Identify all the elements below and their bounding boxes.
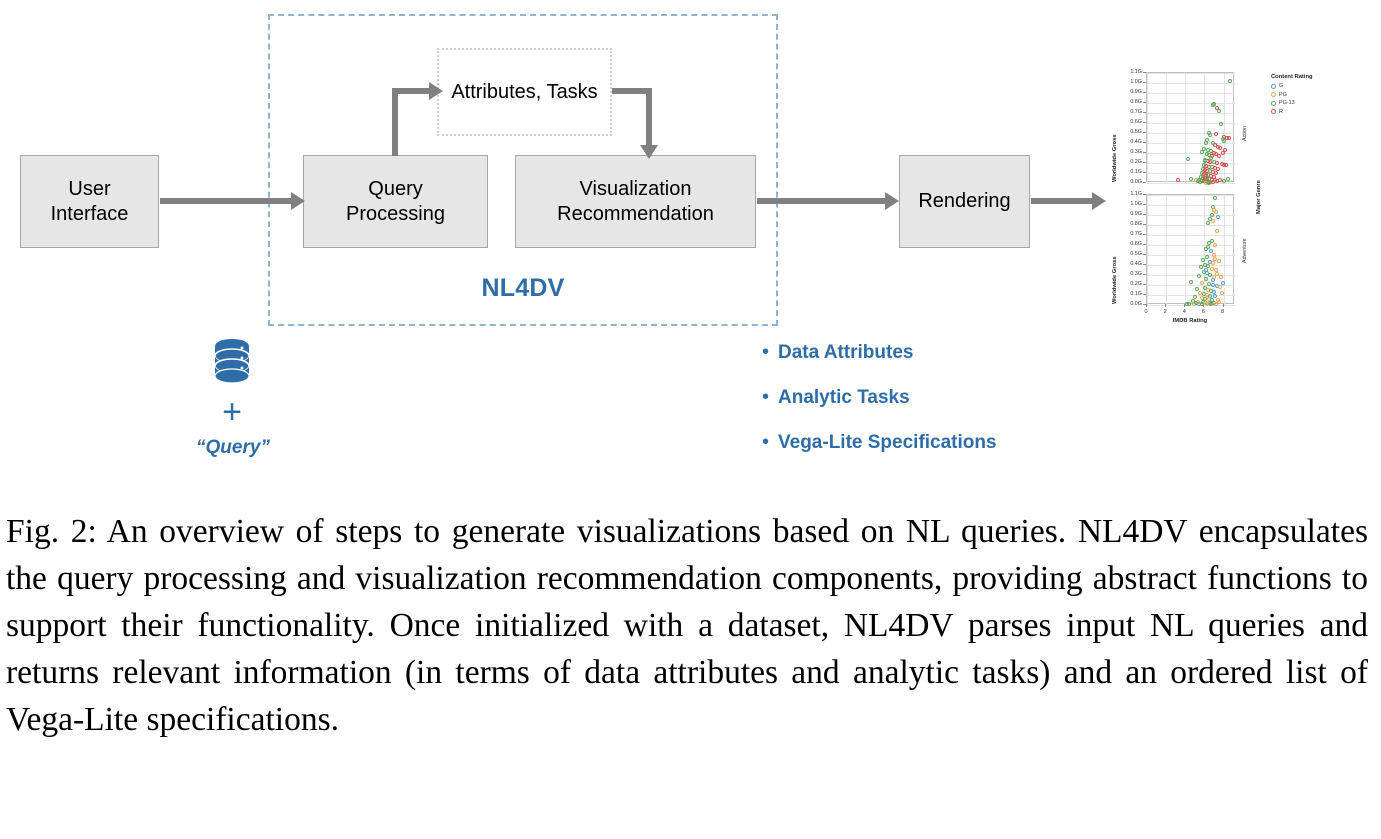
data-point (1219, 122, 1223, 126)
data-point (1207, 181, 1211, 185)
y-axis-tickmark (1143, 92, 1146, 93)
data-point (1213, 243, 1217, 247)
gridline (1147, 235, 1235, 236)
data-point (1198, 291, 1202, 295)
output-label-vega-lite-specifications: Vega-Lite Specifications (778, 432, 997, 454)
legend-item[interactable]: PG (1271, 92, 1313, 98)
x-axis-tick-label: 6 (1193, 309, 1213, 315)
legend-label: G (1279, 83, 1283, 89)
y-axis-tick-label: 0.8G (1114, 221, 1142, 227)
gridline (1147, 103, 1235, 104)
y-axis-tickmark (1143, 82, 1146, 83)
query-processing-box[interactable]: Query Processing (303, 155, 488, 248)
attributes-tasks-box[interactable]: Attributes, Tasks (437, 48, 612, 136)
nl4dv-label: NL4DV (268, 274, 778, 303)
legend-label: R (1279, 109, 1283, 115)
data-point (1198, 180, 1202, 184)
gridline (1147, 205, 1235, 206)
legend-label: PG-13 (1279, 100, 1295, 106)
y-axis-tickmark (1143, 72, 1146, 73)
y-axis-tickmark (1143, 254, 1146, 255)
gridline (1147, 245, 1235, 246)
y-axis-tickmark (1143, 162, 1146, 163)
gridline (1147, 195, 1148, 305)
y-axis-tickmark (1143, 294, 1146, 295)
user-interface-line2: Interface (51, 202, 129, 227)
gridline (1166, 195, 1167, 305)
gridline (1147, 143, 1235, 144)
output-label-data-attributes: Data Attributes (778, 342, 913, 364)
y-axis-tick-label: 0.3G (1114, 149, 1142, 155)
plus-sign: + (208, 393, 256, 432)
attributes-tasks-line2: Tasks (547, 81, 598, 103)
y-axis-title: Worldwide Gross (1112, 134, 1118, 182)
data-point (1197, 274, 1201, 278)
y-axis-tick-label: 0.8G (1114, 99, 1142, 105)
gridline (1147, 215, 1235, 216)
legend-swatch-icon (1271, 101, 1276, 106)
x-axis-tickmark (1223, 304, 1224, 307)
list-item: • Data Attributes (762, 342, 1092, 364)
visualization-rec-line2: Recommendation (557, 202, 714, 227)
query-processing-line2: Processing (346, 202, 445, 227)
gridline (1147, 73, 1148, 183)
data-point (1189, 280, 1193, 284)
rendering-label: Rendering (918, 189, 1010, 214)
y-axis-tickmark (1143, 182, 1146, 183)
y-axis-tickmark (1143, 274, 1146, 275)
gridline (1147, 173, 1235, 174)
data-point (1210, 239, 1214, 243)
data-point (1215, 161, 1219, 165)
pipeline-figure: NL4DV User Interface Query Processing Vi… (0, 0, 1381, 500)
arrow-vis-to-rendering-icon (757, 198, 886, 204)
x-axis-tick-label: 2 (1155, 309, 1175, 315)
y-axis-tickmark (1143, 102, 1146, 103)
arrow-ui-to-query-icon (160, 198, 292, 204)
legend-swatch-icon (1271, 109, 1276, 114)
chart-legend: Content Rating GPGPG-13R (1271, 74, 1313, 117)
data-point (1218, 146, 1222, 150)
data-point (1186, 157, 1190, 161)
rendering-box[interactable]: Rendering (899, 155, 1030, 248)
y-axis-title: Worldwide Gross (1112, 256, 1118, 304)
gridline (1147, 83, 1235, 84)
y-axis-tick-label: 0.1G (1114, 169, 1142, 175)
y-axis-tick-label: 1.0G (1114, 201, 1142, 207)
y-axis-tickmark (1143, 284, 1146, 285)
query-processing-line1: Query (346, 177, 445, 202)
x-axis-title: IMDB Rating (1146, 318, 1234, 324)
data-point (1218, 285, 1222, 289)
result-scatter-chart[interactable]: Content Rating GPGPG-13R 0.0G0.1G0.2G0.3… (1108, 62, 1376, 334)
facet-label: Action (1242, 126, 1248, 141)
y-axis-tick-label: 1.1G (1114, 69, 1142, 75)
y-axis-tick-label: 0.1G (1114, 291, 1142, 297)
gridline (1147, 133, 1235, 134)
gridline (1147, 295, 1235, 296)
data-point (1224, 163, 1228, 167)
gridline (1166, 73, 1167, 183)
data-point (1214, 132, 1218, 136)
arrow-query-to-attributes-stem-icon (392, 88, 398, 156)
y-axis-tickmark (1143, 204, 1146, 205)
y-axis-tickmark (1143, 172, 1146, 173)
figure-caption: Fig. 2: An overview of steps to generate… (6, 508, 1368, 743)
data-point (1221, 151, 1225, 155)
legend-item[interactable]: R (1271, 109, 1313, 115)
visualization-rec-line1: Visualization (557, 177, 714, 202)
legend-item[interactable]: G (1271, 83, 1313, 89)
y-axis-tick-label: 1.1G (1114, 191, 1142, 197)
arrow-query-to-attributes-head-icon (392, 88, 430, 94)
attributes-tasks-line1: Attributes, (451, 81, 541, 103)
data-point (1214, 302, 1218, 306)
gridline (1147, 195, 1235, 196)
y-axis-tick-label: 0.2G (1114, 281, 1142, 287)
gridline (1224, 195, 1225, 305)
data-point (1204, 277, 1208, 281)
visualization-recommendation-box[interactable]: Visualization Recommendation (515, 155, 756, 248)
data-point (1219, 275, 1223, 279)
y-axis-tick-label: 1.0G (1114, 79, 1142, 85)
x-axis-tickmark (1146, 304, 1147, 307)
gridline (1147, 73, 1235, 74)
list-item: • Analytic Tasks (762, 387, 1092, 409)
y-axis-tick-label: 0.9G (1114, 89, 1142, 95)
data-point (1213, 196, 1217, 200)
arrow-rendering-to-output-icon (1031, 198, 1093, 204)
data-point (1215, 272, 1219, 276)
legend-swatch-icon (1271, 92, 1276, 97)
bullet-icon: • (762, 387, 778, 407)
gridline (1147, 113, 1235, 114)
y-axis-tickmark (1143, 132, 1146, 133)
output-label-analytic-tasks: Analytic Tasks (778, 387, 910, 409)
data-point (1217, 154, 1221, 158)
gridline (1147, 285, 1235, 286)
gridline (1147, 255, 1235, 256)
y-axis-tick-label: 0.5G (1114, 251, 1142, 257)
y-axis-tickmark (1143, 152, 1146, 153)
y-axis-tickmark (1143, 244, 1146, 245)
data-point (1214, 210, 1218, 214)
data-point (1205, 255, 1209, 259)
y-axis-tickmark (1143, 234, 1146, 235)
y-axis-tickmark (1143, 112, 1146, 113)
figure-page: NL4DV User Interface Query Processing Vi… (0, 0, 1381, 839)
x-axis-tickmark (1203, 304, 1204, 307)
y-axis-tick-label: 0.4G (1114, 139, 1142, 145)
data-point (1176, 178, 1180, 182)
data-point (1208, 133, 1212, 137)
y-axis-tick-label: 0.7G (1114, 231, 1142, 237)
legend-item[interactable]: PG-13 (1271, 100, 1313, 106)
gridline (1147, 225, 1235, 226)
y-axis-tickmark (1143, 264, 1146, 265)
list-item: • Vega-Lite Specifications (762, 432, 1092, 454)
gridline (1147, 183, 1235, 184)
outputs-list: • Data Attributes • Analytic Tasks • Veg… (762, 342, 1092, 477)
legend-title: Content Rating (1271, 74, 1313, 80)
data-point (1211, 219, 1215, 223)
y-axis-tickmark (1143, 122, 1146, 123)
arrow-attributes-to-vis-head-icon (646, 88, 652, 146)
y-axis-tick-label: 0.3G (1114, 271, 1142, 277)
user-interface-line1: User (51, 177, 129, 202)
y-axis-tick-label: 0.0G (1114, 301, 1142, 307)
user-interface-box[interactable]: User Interface (20, 155, 159, 248)
x-axis-tick-label: 8 (1213, 309, 1233, 315)
y-axis-tick-label: 0.5G (1114, 129, 1142, 135)
gridline (1185, 73, 1186, 183)
data-point (1189, 177, 1193, 181)
bullet-icon: • (762, 342, 778, 362)
query-input-label: “Query” (168, 437, 298, 459)
legend-swatch-icon (1271, 84, 1276, 89)
y-axis-tick-label: 0.6G (1114, 119, 1142, 125)
gridline (1185, 195, 1186, 305)
data-point (1199, 265, 1203, 269)
y-axis-tick-label: 0.2G (1114, 159, 1142, 165)
y-axis-tick-label: 0.9G (1114, 211, 1142, 217)
facet-group-title: Major Genre (1256, 180, 1262, 214)
x-axis-tickmark (1184, 304, 1185, 307)
y-axis-tickmark (1143, 214, 1146, 215)
x-axis-tick-label: 4 (1174, 309, 1194, 315)
data-point (1220, 291, 1224, 295)
data-point (1226, 177, 1230, 181)
y-axis-tick-label: 0.6G (1114, 241, 1142, 247)
y-axis-tick-label: 0.0G (1114, 179, 1142, 185)
y-axis-tickmark (1143, 194, 1146, 195)
gridline (1147, 93, 1235, 94)
bullet-icon: • (762, 432, 778, 452)
data-point (1211, 261, 1215, 265)
data-point (1215, 229, 1219, 233)
data-point (1211, 278, 1215, 282)
y-axis-tickmark (1143, 142, 1146, 143)
plot-panel-adventure (1146, 194, 1234, 304)
y-axis-tick-label: 0.7G (1114, 109, 1142, 115)
data-point (1217, 259, 1221, 263)
data-point (1216, 215, 1220, 219)
facet-label: Adventure (1242, 238, 1248, 263)
y-axis-tickmark (1143, 224, 1146, 225)
plot-panel-action (1146, 72, 1234, 182)
database-icon (208, 337, 256, 389)
data-point (1194, 301, 1198, 305)
x-axis-tickmark (1165, 304, 1166, 307)
legend-label: PG (1279, 92, 1287, 98)
data-point (1222, 179, 1226, 183)
y-axis-tick-label: 0.4G (1114, 261, 1142, 267)
gridline (1147, 265, 1235, 266)
data-point (1205, 138, 1209, 142)
data-point (1217, 109, 1221, 113)
data-point (1227, 136, 1231, 140)
data-point (1221, 281, 1225, 285)
x-axis-tick-label: 0 (1136, 309, 1156, 315)
